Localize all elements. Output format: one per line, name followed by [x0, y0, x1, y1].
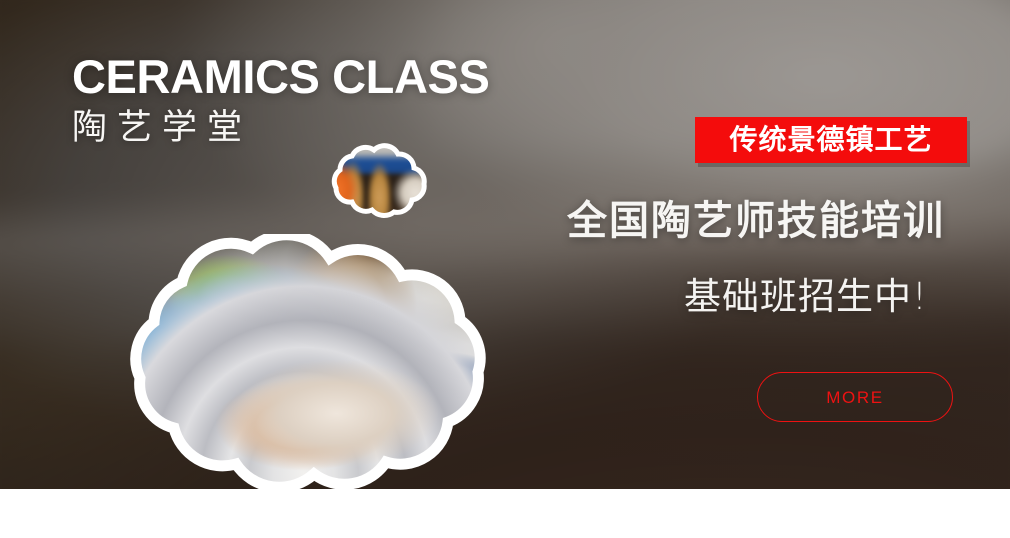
status-badge-label: 传统景德镇工艺 [729, 126, 932, 154]
status-badge: 传统景德镇工艺 [695, 117, 967, 163]
inset-cloud-shape-icon [318, 140, 434, 220]
more-button[interactable]: MORE [757, 372, 953, 422]
more-button-label: MORE [826, 389, 883, 406]
title-block: CERAMICS CLASS 陶艺学堂 [72, 52, 489, 149]
headline-primary: 全国陶艺师技能培训 [567, 199, 967, 243]
headline-secondary: 基础班招生中! [684, 277, 967, 318]
main-cloud-shape-icon [62, 234, 527, 506]
page-title-english: CERAMICS CLASS [72, 52, 489, 101]
inset-cloud-photo-frame [318, 140, 434, 220]
main-cloud-photo-frame [62, 234, 527, 506]
ceramics-class-banner: CERAMICS CLASS 陶艺学堂 [0, 0, 1010, 538]
